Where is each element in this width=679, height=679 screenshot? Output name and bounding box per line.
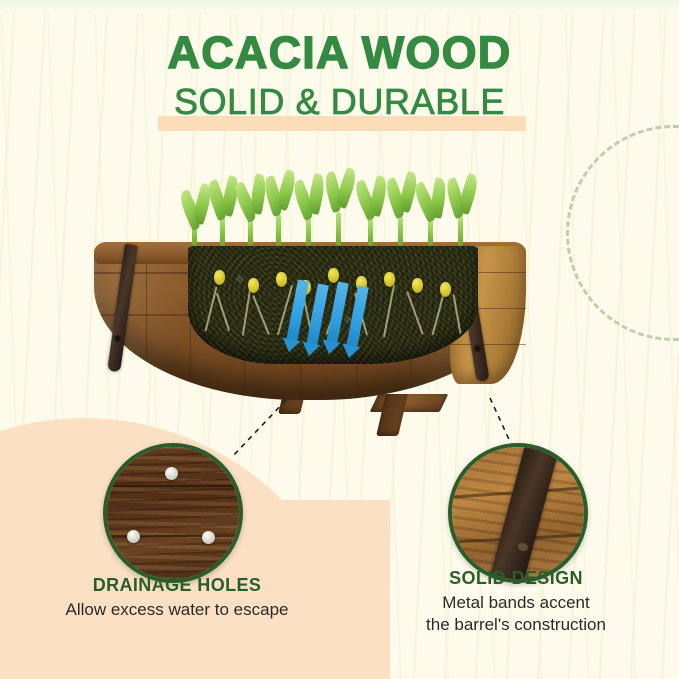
drainage-hole [127, 530, 140, 543]
infographic-canvas: ACACIA WOOD SOLID & DURABLE [0, 0, 679, 679]
soil-cross-section [188, 246, 478, 364]
caption-body: Allow excess water to escape [27, 599, 327, 621]
page-title: ACACIA WOOD [0, 28, 679, 77]
caption-title: DRAINAGE HOLES [27, 575, 327, 596]
seed-bulb [384, 272, 395, 287]
top-green-band [0, 0, 679, 13]
caption-title: SOLID DESIGN [366, 568, 666, 589]
caption-body-line1: Metal bands accent [366, 592, 666, 614]
page-subtitle: SOLID & DURABLE [0, 82, 679, 122]
seed-bulb [248, 278, 259, 293]
seed-bulb [412, 278, 423, 293]
seed-bulb [276, 272, 287, 287]
title-block: ACACIA WOOD [0, 28, 679, 77]
drainage-hole [165, 467, 178, 480]
subtitle-block: SOLID & DURABLE [0, 82, 679, 122]
caption-solid-design: SOLID DESIGN Metal bands accent the barr… [366, 568, 666, 636]
callout-drainage-holes[interactable] [103, 443, 243, 583]
seed-bulb [214, 270, 225, 285]
callout-solid-design[interactable] [448, 443, 588, 583]
drainage-hole [202, 531, 215, 544]
seed-bulb [440, 282, 451, 297]
barrel-planter-image [80, 160, 540, 460]
caption-body-line2: the barrel's construction [366, 614, 666, 636]
caption-drainage-holes: DRAINAGE HOLES Allow excess water to esc… [27, 575, 327, 621]
